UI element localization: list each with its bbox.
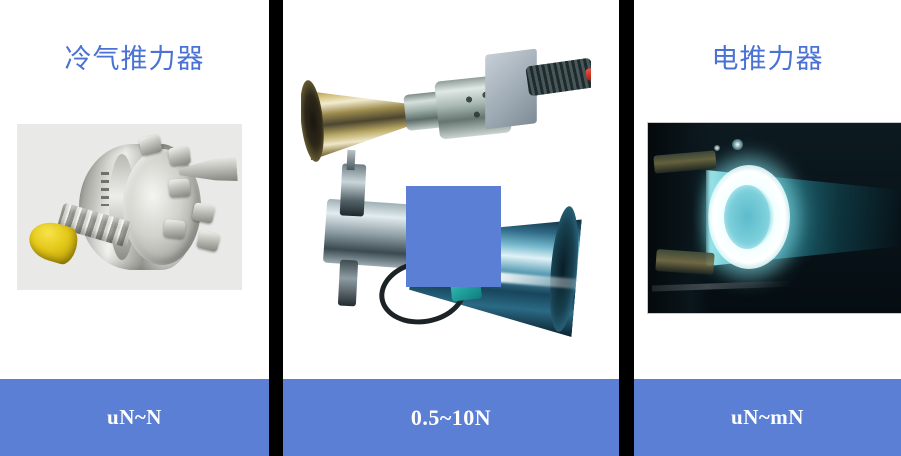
flange-bolt [168,146,191,167]
cold-gas-thruster-photo [17,124,242,290]
flange-bolt [196,230,221,253]
flange-bolt [163,219,186,239]
upper-red-connector [585,67,591,81]
plasma-spark [714,145,720,151]
thrust-range-band-electric: uN~mN [634,379,901,456]
lower-valve-foot [338,260,358,307]
thruster-vent-slots [101,172,109,206]
column-divider-right [619,0,634,456]
mount-bracket-bottom [655,249,714,275]
blue-redaction-box [406,186,501,287]
chemical-thruster-photo [301,16,591,346]
column-title-electric: 电推力器 [634,46,901,73]
column-cold-gas: 冷气推力器 uN~N [0,0,269,456]
thrust-range-band-cold-gas: uN~N [0,379,269,456]
thruster-comparison-slide: 冷气推力器 uN~N 化学推力器 [0,0,901,456]
lower-valve-stack [340,163,367,216]
lower-valve-pin [346,150,355,170]
plasma-spark [732,139,743,150]
electric-thruster-plume-photo [647,122,901,314]
thrust-range-label-chemical: 0.5~10N [411,405,491,431]
thrust-range-label-cold-gas: uN~N [107,405,162,430]
column-electric: 电推力器 uN~mN [634,0,901,456]
discharge-ring-core [724,185,770,249]
column-title-cold-gas: 冷气推力器 [0,46,269,73]
thrust-range-band-chemical: 0.5~10N [283,379,619,456]
column-divider-left [269,0,283,456]
thrust-range-label-electric: uN~mN [731,405,804,430]
flange-bolt [168,178,190,197]
